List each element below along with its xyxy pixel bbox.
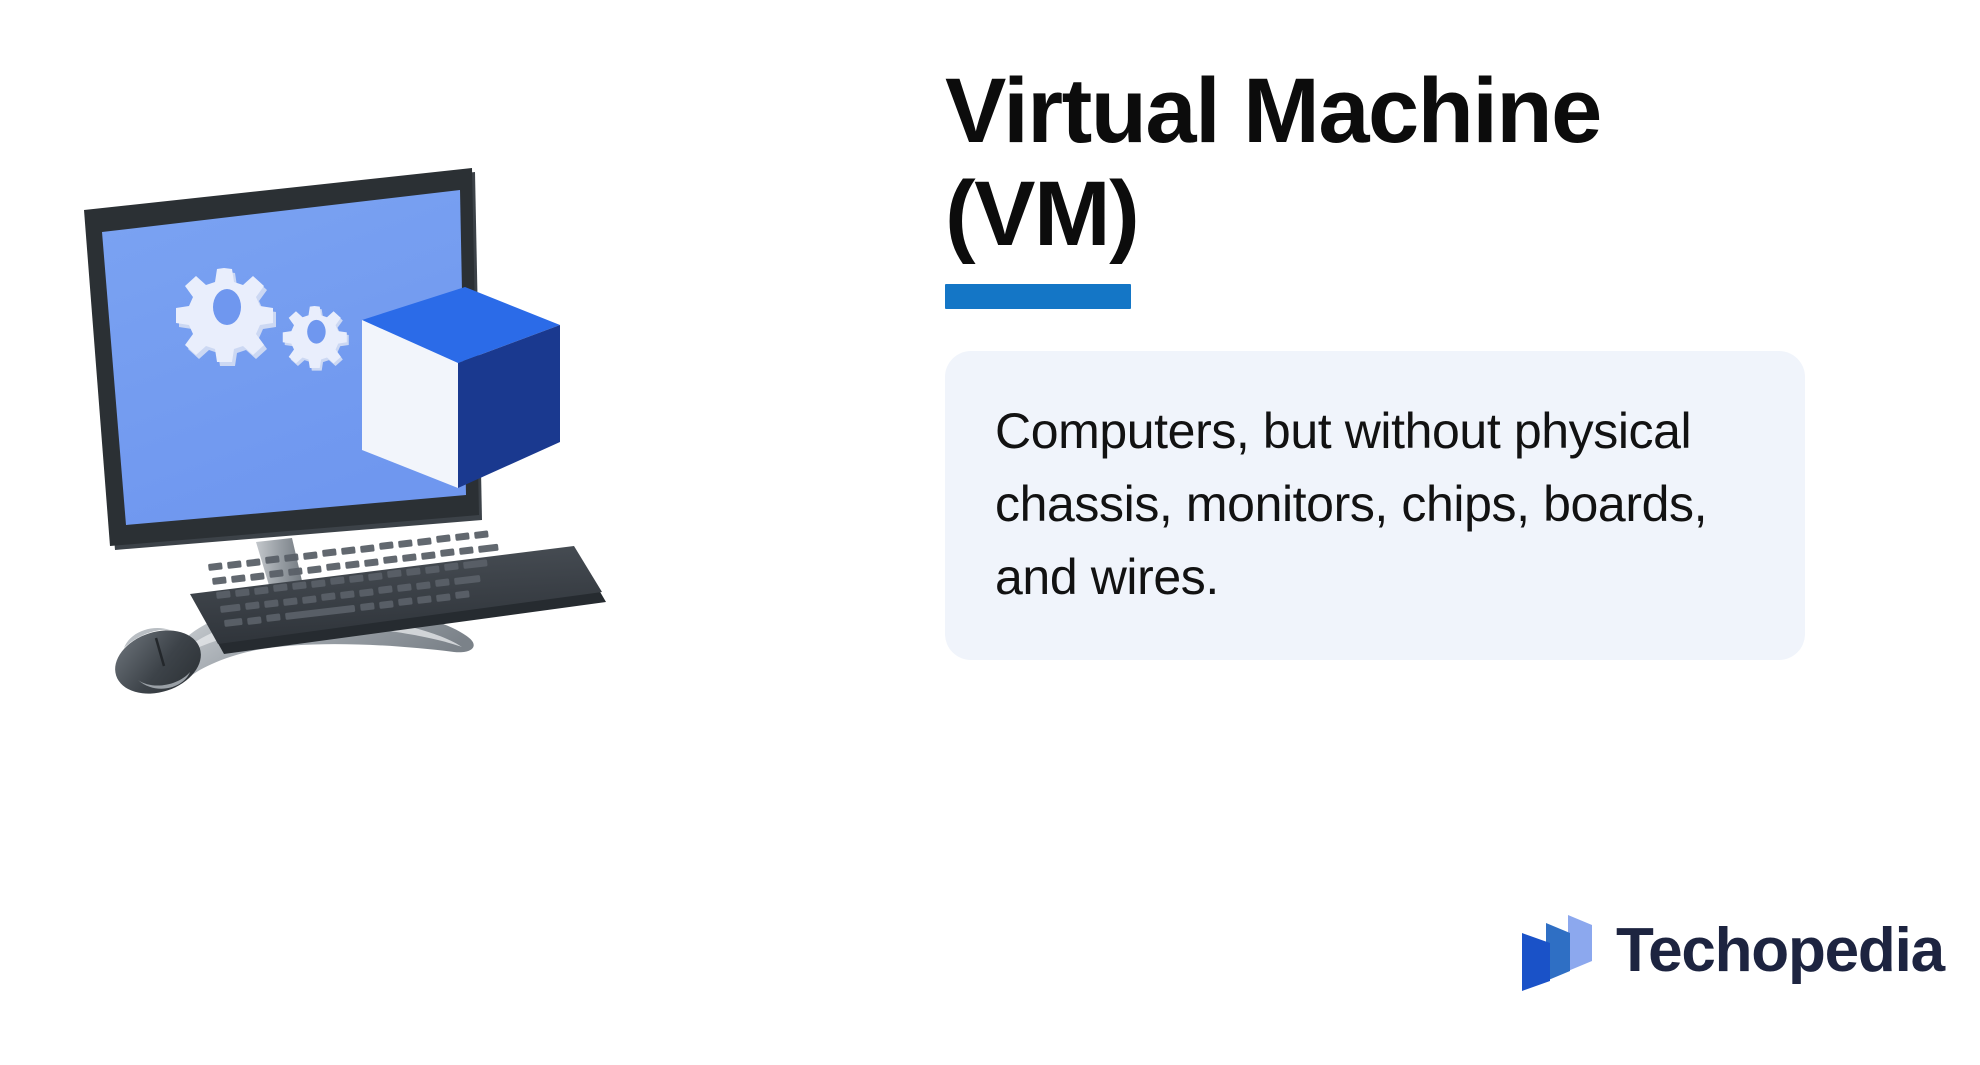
logo-shape-front: [1522, 933, 1550, 991]
title-accent-bar: [945, 284, 1131, 309]
techopedia-wordmark: Techopedia: [1616, 920, 1944, 982]
page-title: Virtual Machine (VM): [945, 60, 1905, 266]
content-column: Virtual Machine (VM) Computers, but with…: [945, 60, 1905, 660]
computer-illustration: [60, 150, 880, 850]
page-title-line-1: Virtual Machine: [945, 60, 1601, 162]
logo-shape-back: [1568, 915, 1592, 971]
techopedia-logo[interactable]: Techopedia: [1510, 905, 1944, 997]
poster-canvas: Virtual Machine (VM) Computers, but with…: [0, 0, 1980, 1065]
definition-card: Computers, but without physical chassis,…: [945, 351, 1805, 660]
definition-text: Computers, but without physical chassis,…: [995, 395, 1755, 614]
techopedia-logo-mark-icon: [1510, 905, 1602, 997]
page-title-line-2: (VM): [945, 163, 1138, 265]
virtual-machine-cube-icon: [362, 287, 560, 488]
monitor: [84, 168, 560, 550]
